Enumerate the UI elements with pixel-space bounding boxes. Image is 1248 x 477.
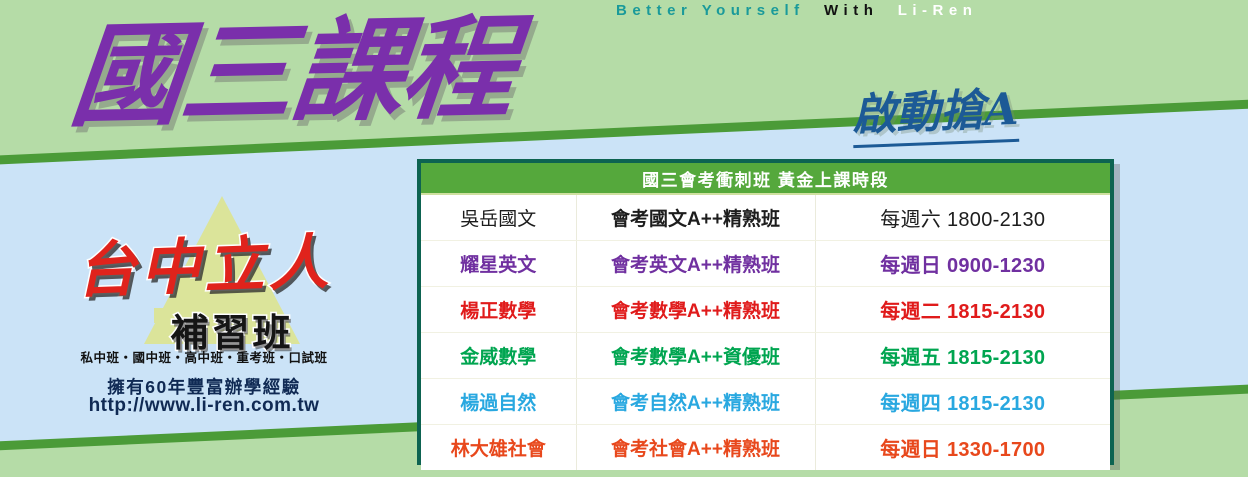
cell-course: 會考數學A++資優班 — [576, 333, 815, 379]
page-title: 國三課程 — [65, 9, 518, 136]
tagline-part-2: With — [824, 2, 878, 19]
schedule-table: 國三會考衝刺班 黃金上課時段 吳岳國文會考國文A++精熟班每週六 1800-21… — [421, 163, 1110, 470]
cell-course: 會考數學A++精熟班 — [576, 287, 815, 333]
cell-time: 每週五 1815-2130 — [815, 333, 1110, 379]
table-row: 耀星英文會考英文A++精熟班每週日 0900-1230 — [421, 241, 1110, 287]
page-subtitle: 啟動搶A — [851, 73, 1020, 148]
table-row: 林大雄社會會考社會A++精熟班每週日 1330-1700 — [421, 425, 1110, 471]
tagline-part-3: Li-Ren — [898, 2, 978, 19]
cell-teacher: 金威數學 — [421, 333, 576, 379]
logo-brand-name: 台中立人 — [25, 212, 384, 311]
cell-time: 每週日 0900-1230 — [815, 241, 1110, 287]
cell-course: 會考社會A++精熟班 — [576, 425, 815, 471]
table-row: 吳岳國文會考國文A++精熟班每週六 1800-2130 — [421, 194, 1110, 241]
logo: 台中立人 補習班 私中班・國中班・高中班・重考班・口試班 擁有60年豐富辦學經驗… — [26, 196, 382, 426]
cell-course: 會考自然A++精熟班 — [576, 379, 815, 425]
table-row: 楊正數學會考數學A++精熟班每週二 1815-2130 — [421, 287, 1110, 333]
cell-teacher: 耀星英文 — [421, 241, 576, 287]
poster-canvas: Better Yourself With Li-Ren 國三課程 啟動搶A 台中… — [0, 0, 1248, 477]
cell-course: 會考國文A++精熟班 — [576, 194, 815, 241]
cell-teacher: 吳岳國文 — [421, 194, 576, 241]
table-row: 金威數學會考數學A++資優班每週五 1815-2130 — [421, 333, 1110, 379]
cell-teacher: 楊正數學 — [421, 287, 576, 333]
cell-time: 每週六 1800-2130 — [815, 194, 1110, 241]
cell-time: 每週二 1815-2130 — [815, 287, 1110, 333]
logo-website-url[interactable]: http://www.li-ren.com.tw — [26, 395, 382, 417]
tagline: Better Yourself With Li-Ren — [616, 2, 977, 19]
logo-class-tags: 私中班・國中班・高中班・重考班・口試班 — [26, 347, 382, 366]
tagline-part-1: Better Yourself — [616, 2, 805, 19]
cell-time: 每週四 1815-2130 — [815, 379, 1110, 425]
cell-teacher: 林大雄社會 — [421, 425, 576, 471]
cell-teacher: 楊過自然 — [421, 379, 576, 425]
schedule-table-container: 國三會考衝刺班 黃金上課時段 吳岳國文會考國文A++精熟班每週六 1800-21… — [417, 159, 1114, 465]
cell-time: 每週日 1330-1700 — [815, 425, 1110, 471]
schedule-table-header-row: 國三會考衝刺班 黃金上課時段 — [421, 163, 1110, 194]
schedule-table-title: 國三會考衝刺班 黃金上課時段 — [421, 163, 1110, 194]
table-row: 楊過自然會考自然A++精熟班每週四 1815-2130 — [421, 379, 1110, 425]
cell-course: 會考英文A++精熟班 — [576, 241, 815, 287]
